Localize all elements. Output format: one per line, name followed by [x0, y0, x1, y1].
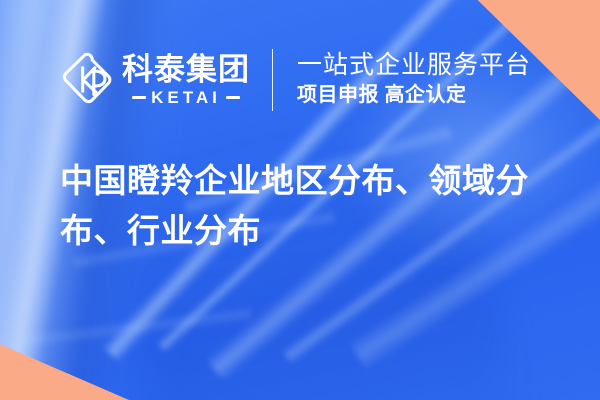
- logo-rule-left: [132, 96, 146, 99]
- tagline-block: 一站式企业服务平台 项目申报 高企认定: [297, 51, 531, 108]
- logo-name-en: KETAI: [151, 89, 221, 106]
- logo-wordmark: 科泰集团 KETAI: [122, 54, 250, 106]
- tagline-main: 一站式企业服务平台: [297, 51, 531, 81]
- page-title: 中国瞪羚企业地区分布、领域分布、行业分布: [60, 156, 552, 255]
- logo-name-en-row: KETAI: [132, 89, 240, 106]
- header-divider: [272, 49, 273, 111]
- ketai-diamond-kd-monogram-icon: [58, 51, 114, 109]
- tagline-sub: 项目申报 高企认定: [297, 83, 531, 109]
- promo-banner: 科泰集团 KETAI 一站式企业服务平台 项目申报 高企认定 中国瞪羚企业地区分…: [0, 0, 600, 400]
- banner-header: 科泰集团 KETAI 一站式企业服务平台 项目申报 高企认定: [58, 44, 531, 116]
- logo-name-cn: 科泰集团: [122, 54, 250, 86]
- logo-rule-right: [226, 96, 240, 99]
